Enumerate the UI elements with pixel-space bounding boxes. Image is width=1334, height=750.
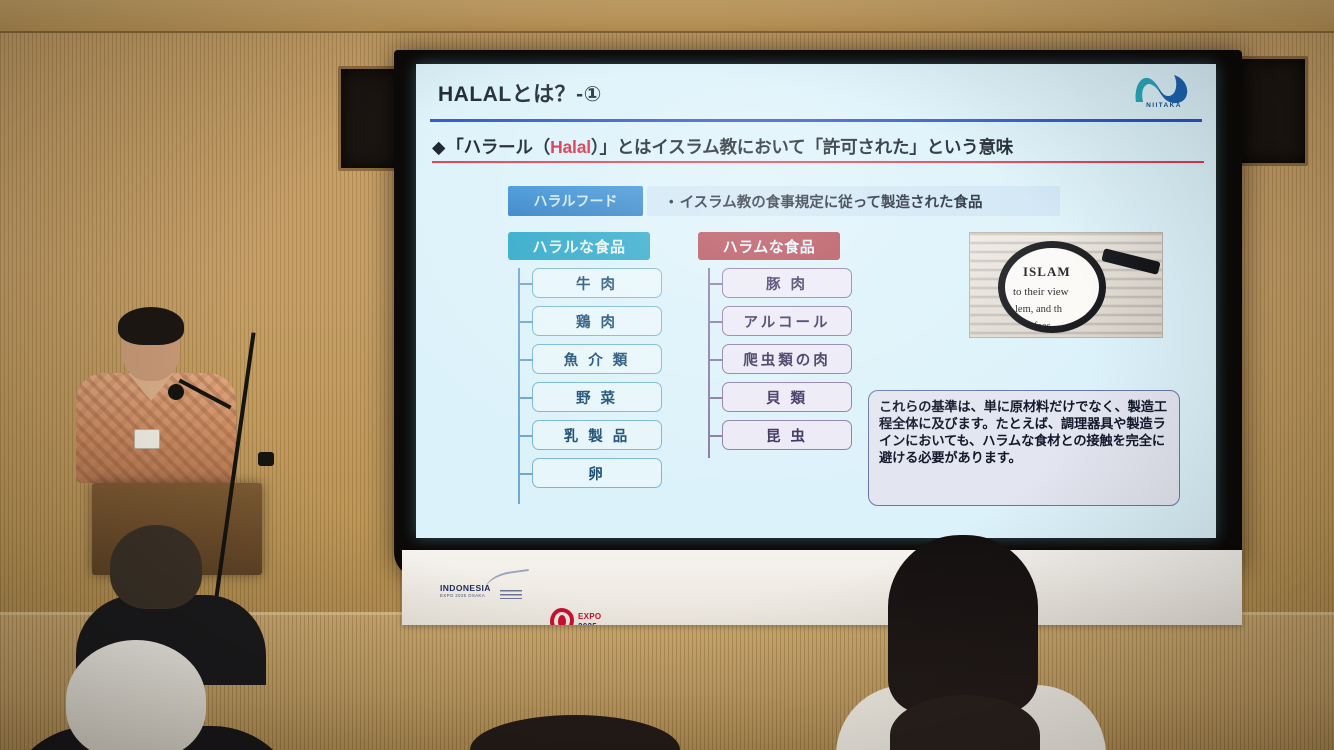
column-halal: ハラルな食品 牛 肉 鶏 肉 魚 介 類 野 菜 乳 製 品 卵	[508, 232, 673, 496]
column-haram: ハラムな食品 豚 肉 アルコール 爬虫類の肉 貝 類 昆 虫	[698, 232, 863, 458]
expo-logo-line1: EXPO	[578, 612, 601, 621]
list-item: 爬虫類の肉	[722, 344, 852, 374]
sponsor-banner: INDONESIA EXPO 2025 OSAKA EXPO 2025 INDO…	[402, 550, 1242, 625]
list-item: 豚 肉	[722, 268, 852, 298]
audience-member	[890, 695, 1060, 750]
slide-title-rule	[430, 119, 1202, 122]
tree-trunk-line	[708, 268, 710, 458]
list-item: 貝 類	[722, 382, 852, 412]
conference-room-scene: HALALとは？-① NIITAKA ◆「ハラール（Halal）」とはイスラム教…	[0, 0, 1334, 750]
halal-food-tag: ハラルフード	[508, 186, 643, 216]
headline-diamond: ◆	[432, 137, 445, 157]
audience-member	[100, 525, 220, 645]
audience-head	[110, 525, 202, 609]
headline-part2: ）」とはイスラム教において「許可された」という意味	[591, 137, 1013, 157]
column-haram-heading: ハラムな食品	[698, 232, 840, 260]
photo-word-islam: ISLAM	[1023, 264, 1071, 280]
wall-upper-band	[0, 0, 1334, 33]
presenter-at-podium	[70, 305, 300, 535]
list-item: 乳 製 品	[532, 420, 662, 450]
list-item: 野 菜	[532, 382, 662, 412]
column-halal-heading: ハラルな食品	[508, 232, 650, 260]
presenter-hair	[118, 307, 184, 345]
note-box: これらの基準は、単に原材料だけでなく、製造工程全体に及びます。たとえば、調理器具…	[868, 390, 1180, 506]
presentation-slide: HALALとは？-① NIITAKA ◆「ハラール（Halal）」とはイスラム教…	[416, 64, 1216, 538]
sponsor-banner-row: INDONESIA EXPO 2025 OSAKA EXPO 2025 INDO…	[402, 572, 1242, 606]
indonesia-logo: INDONESIA EXPO 2025 OSAKA	[438, 572, 530, 606]
audience-head	[66, 640, 206, 750]
projection-screen-assembly: HALALとは？-① NIITAKA ◆「ハラール（Halal）」とはイスラム教…	[394, 50, 1242, 625]
tree-trunk-line	[518, 268, 520, 504]
niitaka-logo-text: NIITAKA	[1128, 102, 1200, 109]
halal-food-description-text: イスラム教の食事規定に従って製造された食品	[680, 191, 983, 212]
niitaka-logo: NIITAKA	[1128, 72, 1200, 116]
audience-head	[890, 695, 1040, 750]
niitaka-swoosh-icon	[1128, 72, 1198, 104]
audience-member	[42, 640, 272, 750]
audience-head	[470, 715, 680, 750]
islam-magnifier-photo: ISLAM to their view lem, and th m feas	[969, 232, 1163, 338]
indonesia-logo-sub: EXPO 2025 OSAKA	[440, 593, 485, 598]
halal-food-description: •イスラム教の食事規定に従って製造された食品	[647, 186, 1060, 216]
list-item: 牛 肉	[532, 268, 662, 298]
column-haram-items: 豚 肉 アルコール 爬虫類の肉 貝 類 昆 虫	[698, 268, 863, 450]
halal-food-row: ハラルフード •イスラム教の食事規定に従って製造された食品	[508, 186, 1060, 216]
audience-head	[888, 535, 1038, 713]
list-item: アルコール	[722, 306, 852, 336]
headline-part1: 「ハラール（	[446, 137, 550, 157]
photo-line-3: lem, and th	[1015, 304, 1062, 315]
slide-headline: ◆「ハラール（Halal）」とはイスラム教において「許可された」という意味	[432, 134, 1204, 163]
list-item: 魚 介 類	[532, 344, 662, 374]
presenter-name-badge	[134, 429, 160, 449]
expo-mark-icon	[550, 608, 574, 625]
microphone-icon	[168, 384, 184, 400]
headline-highlight: Halal	[550, 137, 591, 157]
column-halal-items: 牛 肉 鶏 肉 魚 介 類 野 菜 乳 製 品 卵	[508, 268, 673, 488]
list-item: 鶏 肉	[532, 306, 662, 336]
bullet-icon: •	[669, 194, 674, 209]
expo-logo-line2: 2025	[578, 622, 597, 625]
magnifier-lens-icon: ISLAM to their view lem, and th m feas	[998, 241, 1106, 333]
list-item: 昆 虫	[722, 420, 852, 450]
audience-member	[470, 715, 680, 750]
expo-logo: EXPO 2025	[550, 606, 616, 625]
slide-title: HALALとは？-①	[438, 78, 602, 108]
list-item: 卵	[532, 458, 662, 488]
photo-line-2: to their view	[1013, 286, 1069, 298]
microphone-joint	[258, 452, 274, 466]
wall-speaker-right	[1236, 56, 1308, 166]
indonesia-logo-text: INDONESIA	[440, 583, 491, 593]
indonesia-bars-icon	[500, 590, 522, 599]
